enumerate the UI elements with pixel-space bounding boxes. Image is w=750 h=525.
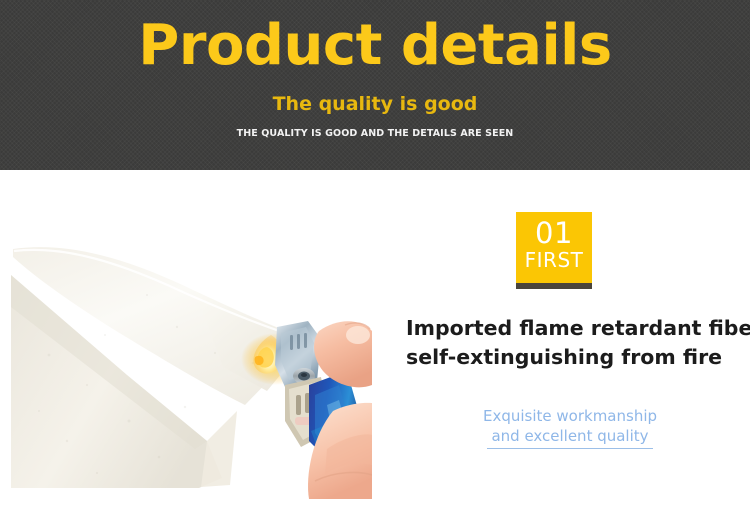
- feature-headline-line-2: self-extinguishing from fire: [406, 343, 750, 372]
- badge-number: 01: [516, 217, 592, 249]
- header-caption: THE QUALITY IS GOOD AND THE DETAILS ARE …: [0, 127, 750, 141]
- product-photo: [9, 235, 372, 502]
- feature-headline-line-1: Imported flame retardant fiber: [406, 314, 750, 343]
- page-title: Product details: [0, 10, 750, 82]
- feature-headline: Imported flame retardant fiber self-exti…: [406, 314, 750, 372]
- product-details-page: Product details The quality is good THE …: [0, 0, 750, 525]
- feature-subnote: Exquisite workmanship and excellent qual…: [436, 406, 704, 449]
- fabric-lighter-flame-photo: [9, 235, 372, 502]
- right-column: 01 FIRST Imported flame retardant fiber …: [392, 170, 750, 525]
- header-banner: Product details The quality is good THE …: [0, 0, 750, 170]
- content-area: 01 FIRST Imported flame retardant fiber …: [0, 170, 750, 525]
- step-badge: 01 FIRST: [516, 212, 592, 289]
- feature-subnote-line-1: Exquisite workmanship: [436, 406, 704, 426]
- badge-label: FIRST: [516, 249, 592, 272]
- header-subtitle: The quality is good: [0, 91, 750, 117]
- feature-subnote-line-2: and excellent quality: [487, 426, 652, 449]
